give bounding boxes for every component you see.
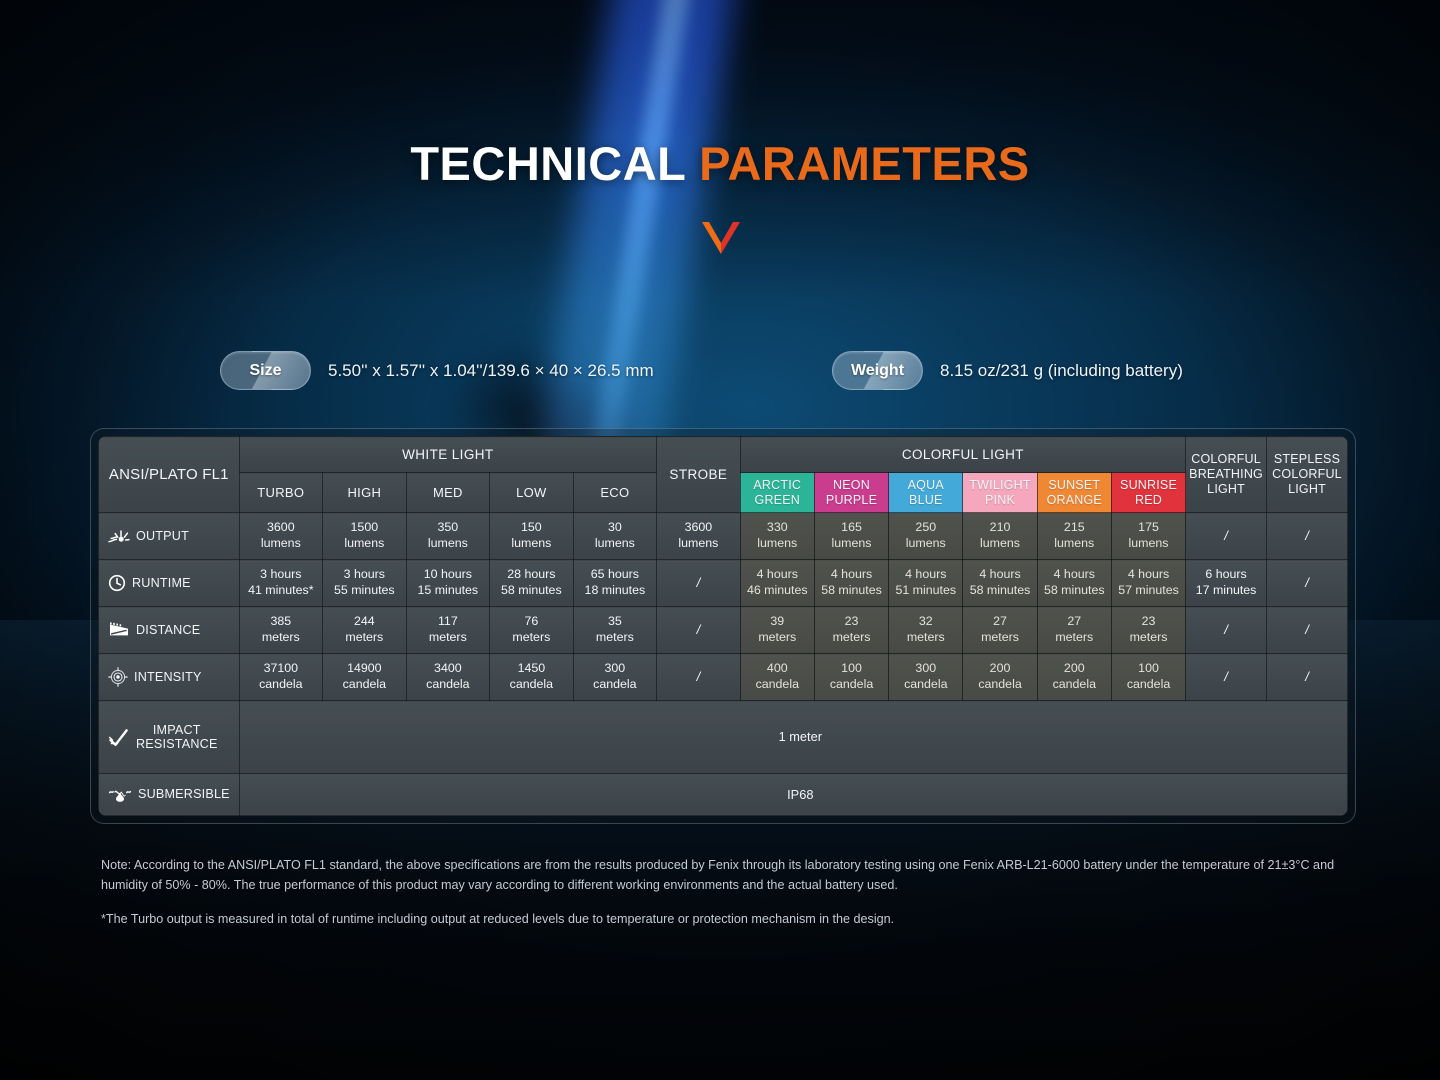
- cell-runtime-high: 3 hours55 minutes: [323, 560, 407, 607]
- light-burst-icon: [108, 528, 130, 545]
- cell-intensity-aqua-blue: 300candela: [889, 654, 963, 701]
- table-row-distance: DISTANCE 385meters 244meters 117meters 7…: [99, 607, 1348, 654]
- cell-distance-arctic-green: 39meters: [740, 607, 814, 654]
- cell-distance-sunset-orange: 27meters: [1037, 607, 1111, 654]
- water-drop-icon: [108, 786, 132, 802]
- row-label-distance: DISTANCE: [99, 607, 240, 654]
- cell-intensity-strobe: /: [657, 654, 741, 701]
- cell-output-twilight-pink: 210lumens: [963, 513, 1037, 560]
- cell-intensity-eco: 300candela: [573, 654, 657, 701]
- size-value: 5.50'' x 1.57'' x 1.04''/139.6 × 40 × 26…: [328, 361, 654, 381]
- row-label-output: OUTPUT: [99, 513, 240, 560]
- cell-output-sunrise-red: 175lumens: [1111, 513, 1185, 560]
- table-row-impact-resistance: IMPACTRESISTANCE 1 meter: [99, 701, 1348, 774]
- cell-submersible-value: IP68: [239, 773, 1347, 815]
- header-strobe: STROBE: [657, 437, 741, 513]
- table-row-submersible: SUBMERSIBLE IP68: [99, 773, 1348, 815]
- row-label-submersible-text: SUBMERSIBLE: [138, 787, 230, 801]
- header-colorful-light: COLORFUL LIGHT: [740, 437, 1186, 473]
- row-label-submersible: SUBMERSIBLE: [99, 773, 240, 815]
- cell-intensity-neon-purple: 100candela: [814, 654, 888, 701]
- row-label-impact-text: IMPACTRESISTANCE: [136, 723, 218, 751]
- target-icon: [108, 667, 128, 687]
- header-stepless-colorful-light: STEPLESSCOLORFULLIGHT: [1267, 437, 1348, 513]
- cell-distance-neon-purple: 23meters: [814, 607, 888, 654]
- cell-runtime-twilight-pink: 4 hours58 minutes: [963, 560, 1037, 607]
- chevron-down-icon: [702, 222, 740, 254]
- table-row-intensity: INTENSITY 37100candela 14900candela 3400…: [99, 654, 1348, 701]
- weight-pill-label: Weight: [851, 362, 904, 380]
- cell-runtime-aqua-blue: 4 hours51 minutes: [889, 560, 963, 607]
- cell-intensity-sunset-orange: 200candela: [1037, 654, 1111, 701]
- clock-icon: [108, 574, 126, 592]
- cell-runtime-neon-purple: 4 hours58 minutes: [814, 560, 888, 607]
- header-mode-turbo: TURBO: [239, 473, 323, 513]
- cell-intensity-high: 14900candela: [323, 654, 407, 701]
- cell-distance-low: 76meters: [490, 607, 574, 654]
- cell-runtime-sunrise-red: 4 hours57 minutes: [1111, 560, 1185, 607]
- spec-table: ANSI/PLATO FL1 WHITE LIGHT STROBE COLORF…: [98, 436, 1348, 816]
- row-label-runtime-text: RUNTIME: [132, 576, 191, 590]
- cell-runtime-eco: 65 hours18 minutes: [573, 560, 657, 607]
- cell-output-med: 350lumens: [406, 513, 490, 560]
- row-label-runtime: RUNTIME: [99, 560, 240, 607]
- header-mode-twilight-pink: TWILIGHTPINK: [963, 473, 1037, 513]
- row-label-output-text: OUTPUT: [136, 529, 189, 543]
- cell-runtime-strobe: /: [657, 560, 741, 607]
- cell-output-aqua-blue: 250lumens: [889, 513, 963, 560]
- cell-output-neon-purple: 165lumens: [814, 513, 888, 560]
- cell-intensity-turbo: 37100candela: [239, 654, 323, 701]
- spec-table-frame: ANSI/PLATO FL1 WHITE LIGHT STROBE COLORF…: [90, 428, 1356, 824]
- header-stepless-colorful-label: STEPLESSCOLORFULLIGHT: [1272, 452, 1342, 496]
- cell-runtime-turbo: 3 hours41 minutes*: [239, 560, 323, 607]
- footnote-standard: Note: According to the ANSI/PLATO FL1 st…: [101, 855, 1346, 896]
- cell-distance-sunrise-red: 23meters: [1111, 607, 1185, 654]
- cell-intensity-breathing: /: [1186, 654, 1267, 701]
- cell-output-strobe: 3600lumens: [657, 513, 741, 560]
- header-mode-sunset-orange: SUNSETORANGE: [1037, 473, 1111, 513]
- cell-runtime-med: 10 hours15 minutes: [406, 560, 490, 607]
- cell-intensity-stepless: /: [1267, 654, 1348, 701]
- page-title-main: TECHNICAL: [410, 137, 699, 190]
- cell-runtime-sunset-orange: 4 hours58 minutes: [1037, 560, 1111, 607]
- cell-output-breathing: /: [1186, 513, 1267, 560]
- header-colorful-breathing-light: COLORFULBREATHINGLIGHT: [1186, 437, 1267, 513]
- cell-distance-med: 117meters: [406, 607, 490, 654]
- cell-impact-resistance-value: 1 meter: [239, 701, 1347, 774]
- header-mode-arctic-green: ARCTICGREEN: [740, 473, 814, 513]
- weight-value: 8.15 oz/231 g (including battery): [940, 361, 1183, 381]
- table-row-output: OUTPUT 3600lumens 1500lumens 350lumens 1…: [99, 513, 1348, 560]
- header-mode-neon-purple: NEONPURPLE: [814, 473, 888, 513]
- row-label-impact-resistance: IMPACTRESISTANCE: [99, 701, 240, 774]
- cell-distance-stepless: /: [1267, 607, 1348, 654]
- page-title: TECHNICAL PARAMETERS: [0, 136, 1440, 191]
- hammer-check-icon: [108, 727, 130, 747]
- cell-distance-aqua-blue: 32meters: [889, 607, 963, 654]
- header-mode-low: LOW: [490, 473, 574, 513]
- footnote-turbo: *The Turbo output is measured in total o…: [101, 909, 1346, 929]
- cell-runtime-stepless: /: [1267, 560, 1348, 607]
- spec-summary-bar: Size 5.50'' x 1.57'' x 1.04''/139.6 × 40…: [220, 351, 1260, 391]
- cell-runtime-low: 28 hours58 minutes: [490, 560, 574, 607]
- cell-output-turbo: 3600lumens: [239, 513, 323, 560]
- cell-output-eco: 30lumens: [573, 513, 657, 560]
- cell-intensity-arctic-green: 400candela: [740, 654, 814, 701]
- size-pill: Size: [220, 351, 311, 390]
- cell-distance-high: 244meters: [323, 607, 407, 654]
- cell-output-arctic-green: 330lumens: [740, 513, 814, 560]
- cell-distance-strobe: /: [657, 607, 741, 654]
- cell-distance-twilight-pink: 27meters: [963, 607, 1037, 654]
- table-header-row-groups: ANSI/PLATO FL1 WHITE LIGHT STROBE COLORF…: [99, 437, 1348, 473]
- row-label-intensity-text: INTENSITY: [134, 670, 202, 684]
- cell-runtime-arctic-green: 4 hours46 minutes: [740, 560, 814, 607]
- weight-spec: Weight 8.15 oz/231 g (including battery): [832, 351, 1183, 390]
- header-mode-med: MED: [406, 473, 490, 513]
- cell-output-low: 150lumens: [490, 513, 574, 560]
- cell-distance-eco: 35meters: [573, 607, 657, 654]
- header-mode-eco: ECO: [573, 473, 657, 513]
- cell-distance-turbo: 385meters: [239, 607, 323, 654]
- cell-intensity-twilight-pink: 200candela: [963, 654, 1037, 701]
- cell-intensity-sunrise-red: 100candela: [1111, 654, 1185, 701]
- cell-runtime-breathing: 6 hours17 minutes: [1186, 560, 1267, 607]
- header-white-light: WHITE LIGHT: [239, 437, 657, 473]
- page-title-accent: PARAMETERS: [699, 137, 1030, 190]
- footnotes: Note: According to the ANSI/PLATO FL1 st…: [101, 855, 1346, 929]
- header-ansi-plato: ANSI/PLATO FL1: [99, 437, 240, 513]
- cell-distance-breathing: /: [1186, 607, 1267, 654]
- header-mode-sunrise-red: SUNRISERED: [1111, 473, 1185, 513]
- size-spec: Size 5.50'' x 1.57'' x 1.04''/139.6 × 40…: [220, 351, 654, 390]
- table-row-runtime: RUNTIME 3 hours41 minutes* 3 hours55 min…: [99, 560, 1348, 607]
- cell-output-high: 1500lumens: [323, 513, 407, 560]
- cell-intensity-med: 3400candela: [406, 654, 490, 701]
- cell-output-sunset-orange: 215lumens: [1037, 513, 1111, 560]
- cell-intensity-low: 1450candela: [490, 654, 574, 701]
- size-pill-label: Size: [249, 362, 281, 380]
- beam-cone-icon: [108, 622, 130, 638]
- header-mode-high: HIGH: [323, 473, 407, 513]
- header-mode-aqua-blue: AQUABLUE: [889, 473, 963, 513]
- header-colorful-breathing-label: COLORFULBREATHINGLIGHT: [1189, 452, 1263, 496]
- row-label-distance-text: DISTANCE: [136, 623, 200, 637]
- row-label-intensity: INTENSITY: [99, 654, 240, 701]
- weight-pill: Weight: [832, 351, 923, 390]
- cell-output-stepless: /: [1267, 513, 1348, 560]
